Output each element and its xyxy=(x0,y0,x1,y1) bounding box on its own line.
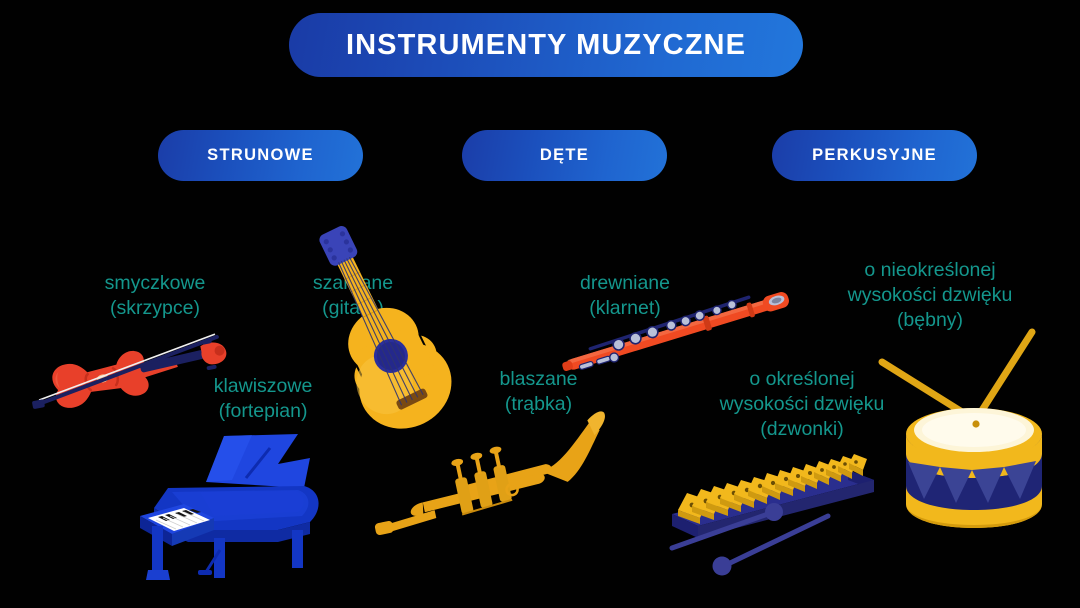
category-pill-dete[interactable]: DĘTE xyxy=(462,130,667,181)
drum-illustration xyxy=(880,322,1070,567)
violin-illustration xyxy=(26,322,256,420)
category-label-perkusyjne: PERKUSYJNE xyxy=(812,146,937,165)
page-title: INSTRUMENTY MUZYCZNE xyxy=(346,29,746,62)
category-label-dete: DĘTE xyxy=(540,146,589,165)
label-blaszane: blaszane (trąbka) xyxy=(456,367,621,417)
category-pill-perkusyjne[interactable]: PERKUSYJNE xyxy=(772,130,977,181)
page-title-pill: INSTRUMENTY MUZYCZNE xyxy=(289,13,803,77)
clarinet-illustration xyxy=(555,290,805,370)
category-label-strunowe: STRUNOWE xyxy=(207,146,314,165)
category-pill-strunowe[interactable]: STRUNOWE xyxy=(158,130,363,181)
xylophone-illustration xyxy=(658,452,903,577)
infographic-canvas: INSTRUMENTY MUZYCZNE STRUNOWE DĘTE PERKU… xyxy=(0,0,1080,608)
guitar-illustration xyxy=(330,255,480,440)
piano-illustration xyxy=(128,430,338,585)
label-smyczkowe: smyczkowe (skrzypce) xyxy=(60,271,250,321)
trumpet-illustration xyxy=(360,420,620,545)
